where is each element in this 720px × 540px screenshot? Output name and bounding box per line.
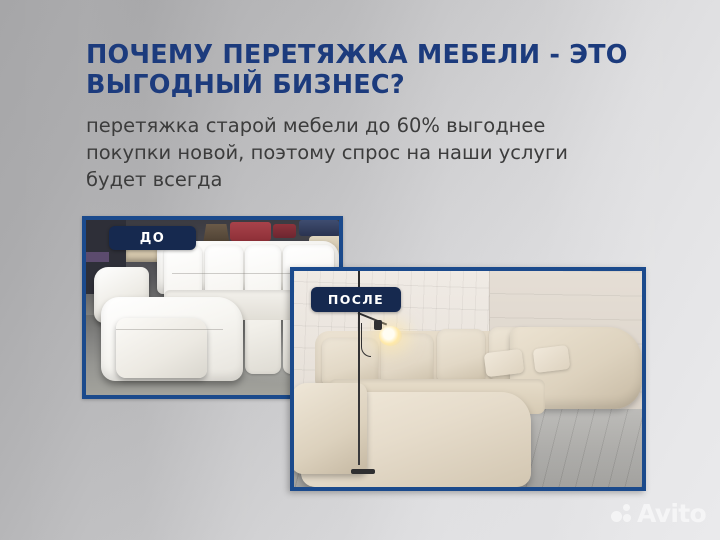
subtitle-text: перетяжка старой мебели до 60% выгоднее …	[86, 112, 662, 193]
status-badge-before: ДО	[109, 226, 196, 250]
blue-sofa-background	[299, 220, 339, 236]
floor-lamp-base	[351, 469, 375, 474]
page-title: ПОЧЕМУ ПЕРЕТЯЖКА МЕБЕЛИ - ЭТО ВЫГОДНЫЙ Б…	[86, 40, 656, 100]
avito-wordmark: Avito	[637, 501, 706, 526]
stitch-seam	[116, 329, 222, 330]
floor-lamp-wire	[361, 323, 371, 358]
showroom-box	[86, 252, 109, 263]
throw-pillow-2	[533, 345, 570, 373]
throw-pillow-1	[484, 349, 525, 377]
subtitle-line-1: перетяжка старой мебели до 60% выгоднее	[86, 112, 662, 139]
status-badge-after: ПОСЛЕ	[311, 287, 401, 312]
white-sofa-ottoman	[116, 318, 207, 378]
floor-lamp-socket	[374, 320, 382, 330]
headline-line-2: ВЫГОДНЫЙ БИЗНЕС?	[86, 70, 656, 100]
red-sofa-background-2	[273, 224, 296, 238]
slide-canvas: ПОЧЕМУ ПЕРЕТЯЖКА МЕБЕЛИ - ЭТО ВЫГОДНЫЙ Б…	[0, 0, 720, 540]
beige-sofa-left-armrest	[294, 383, 367, 474]
headline-line-1: ПОЧЕМУ ПЕРЕТЯЖКА МЕБЕЛИ - ЭТО	[86, 40, 628, 70]
avito-dots-icon	[611, 503, 632, 524]
subtitle-line-2: покупки новой, поэтому спрос на наши усл…	[86, 139, 662, 166]
subtitle-line-3: будет всегда	[86, 166, 662, 193]
red-sofa-background	[230, 222, 270, 241]
beige-sofa-cushion-3	[437, 329, 486, 381]
avito-watermark: Avito	[611, 501, 706, 526]
floor-lamp-bulb	[379, 326, 402, 346]
